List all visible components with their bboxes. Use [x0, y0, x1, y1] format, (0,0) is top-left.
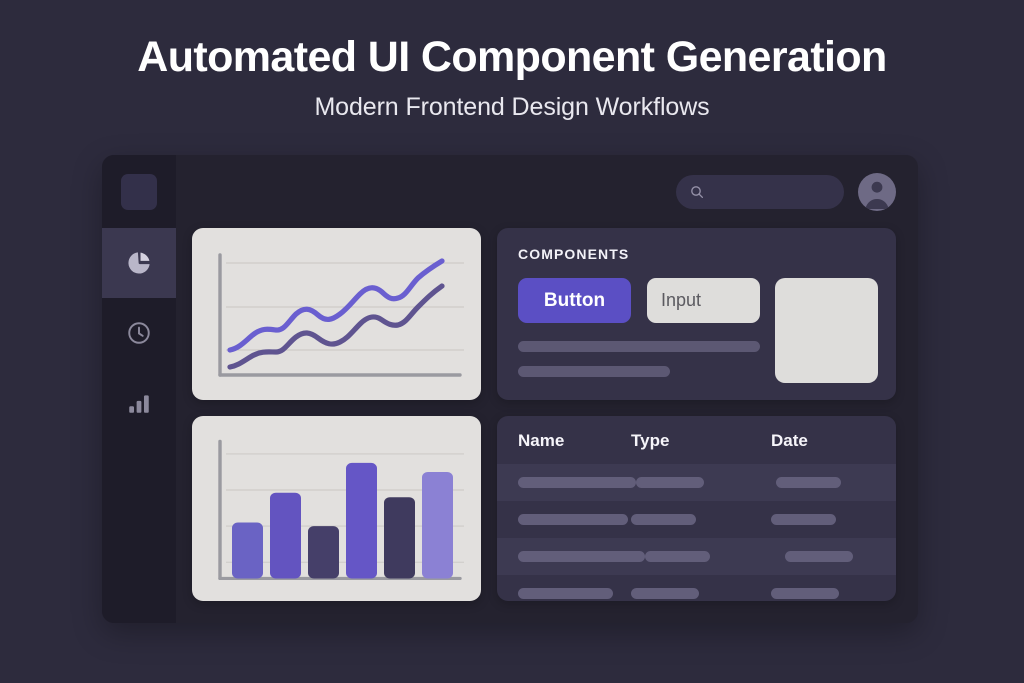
page-heading: Automated UI Component Generation Modern… [0, 0, 1024, 122]
pie-chart-icon [126, 250, 152, 276]
bar-chart [192, 416, 481, 601]
app-logo[interactable] [102, 155, 176, 228]
cell-placeholder-date [776, 477, 841, 488]
table-header-row: Name Type Date [497, 416, 896, 464]
table-row[interactable] [497, 501, 896, 538]
topbar [176, 155, 918, 228]
table-row[interactable] [497, 538, 896, 575]
skeleton-line [518, 341, 760, 352]
main-area: COMPONENTS Button [176, 155, 918, 623]
components-panel: COMPONENTS Button [497, 228, 896, 400]
cell-placeholder-type [636, 477, 704, 488]
cell-placeholder-type [645, 551, 710, 562]
table-row[interactable] [497, 575, 896, 601]
sidebar-item-history[interactable] [102, 298, 176, 368]
table-row[interactable] [497, 464, 896, 501]
clock-icon [126, 320, 152, 346]
skeleton-group [518, 341, 761, 377]
cell-placeholder-date [785, 551, 853, 562]
cell-placeholder-date [771, 588, 839, 599]
avatar[interactable] [858, 173, 896, 211]
column-header-date: Date [771, 431, 876, 451]
input-component[interactable] [647, 278, 760, 323]
page-subtitle: Modern Frontend Design Workflows [0, 93, 1024, 122]
column-header-type: Type [631, 431, 771, 451]
button-component[interactable]: Button [518, 278, 631, 323]
table-panel: Name Type Date [497, 416, 896, 601]
sidebar [102, 155, 176, 623]
cell-placeholder-type [631, 514, 696, 525]
cell-placeholder-name [518, 588, 613, 599]
content-grid: COMPONENTS Button [176, 228, 918, 623]
cell-placeholder-date [771, 514, 836, 525]
card-placeholder[interactable] [775, 278, 878, 383]
sidebar-item-reports[interactable] [102, 368, 176, 438]
line-chart [192, 228, 481, 400]
line-chart-card[interactable] [192, 228, 481, 400]
cell-placeholder-name [518, 477, 636, 488]
sidebar-item-analytics[interactable] [102, 228, 176, 298]
cell-placeholder-type [631, 588, 699, 599]
app-window: COMPONENTS Button [102, 155, 918, 623]
column-header-name: Name [518, 431, 631, 451]
bar-chart-icon [126, 390, 152, 416]
search-bar[interactable] [676, 175, 844, 209]
cell-placeholder-name [518, 514, 628, 525]
bar-chart-card[interactable] [192, 416, 481, 601]
search-icon [689, 184, 705, 200]
skeleton-line [518, 366, 670, 377]
logo-square-icon [121, 174, 157, 210]
cell-placeholder-name [518, 551, 645, 562]
components-heading: COMPONENTS [518, 246, 876, 262]
page-title: Automated UI Component Generation [0, 34, 1024, 80]
search-input[interactable] [713, 184, 833, 199]
